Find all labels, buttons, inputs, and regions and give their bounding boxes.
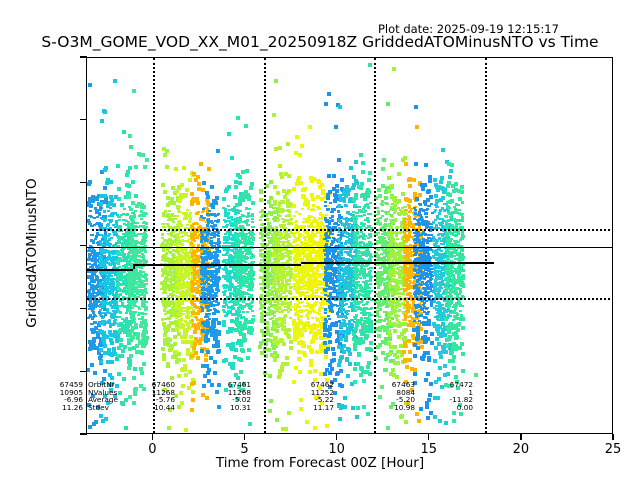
stats-stdev: 0.00	[428, 404, 473, 412]
hour-marker-line	[264, 58, 266, 433]
stats-row-label: Stdev	[88, 404, 118, 412]
stats-block: 674721-11.820.00	[428, 381, 473, 411]
stats-stdev: 10.44	[130, 404, 175, 412]
sigma-band-lower	[87, 298, 613, 300]
stats-block: 6746011268-5.7610.44	[130, 381, 175, 411]
mean-line-segment	[133, 264, 301, 266]
y-tick	[80, 182, 87, 183]
stats-block: 6746211252-5.2211.17	[289, 381, 334, 411]
scatter-cluster	[87, 58, 613, 433]
stats-stdev: 10.98	[370, 404, 415, 412]
y-tick	[80, 371, 87, 372]
mean-line-segment	[87, 269, 133, 271]
stats-orbit: 67472	[428, 381, 473, 389]
x-tick	[612, 434, 613, 440]
stats-row-labels: OrbitNrNValuesAverageStdev	[88, 381, 118, 411]
plot-root: Plot date: 2025-09-19 12:15:17 S-O3M_GOM…	[0, 0, 640, 480]
stats-block: 674638084-5.2010.98	[370, 381, 415, 411]
mean-line-step	[301, 262, 303, 264]
mean-line-segment	[301, 262, 494, 264]
x-tick	[428, 434, 429, 440]
hour-marker-line	[374, 58, 376, 433]
x-tick	[336, 434, 337, 440]
plot-area	[86, 57, 613, 434]
stats-block: 6745910905-6.9611.26	[38, 381, 83, 411]
x-tick	[152, 434, 153, 440]
zero-reference-line	[87, 247, 613, 248]
y-axis-label: GriddedATOMinusNTO	[24, 73, 40, 433]
y-tick	[80, 308, 87, 309]
hour-marker-line	[153, 58, 155, 433]
mean-line-step	[133, 264, 135, 269]
y-tick	[80, 56, 87, 57]
stats-stdev: 11.26	[38, 404, 83, 412]
sigma-band-upper	[87, 229, 613, 231]
stats-stdev: 10.31	[206, 404, 251, 412]
page-title: S-O3M_GOME_VOD_XX_M01_20250918Z GriddedA…	[0, 33, 640, 51]
stats-stdev: 11.17	[289, 404, 334, 412]
y-tick	[80, 119, 87, 120]
stats-block: 6746111268-5.0210.31	[206, 381, 251, 411]
x-axis-label: Time from Forecast 00Z [Hour]	[0, 455, 640, 471]
x-tick	[520, 434, 521, 440]
x-tick	[244, 434, 245, 440]
y-tick	[80, 433, 87, 434]
y-tick	[80, 245, 87, 246]
hour-marker-line	[485, 58, 487, 433]
